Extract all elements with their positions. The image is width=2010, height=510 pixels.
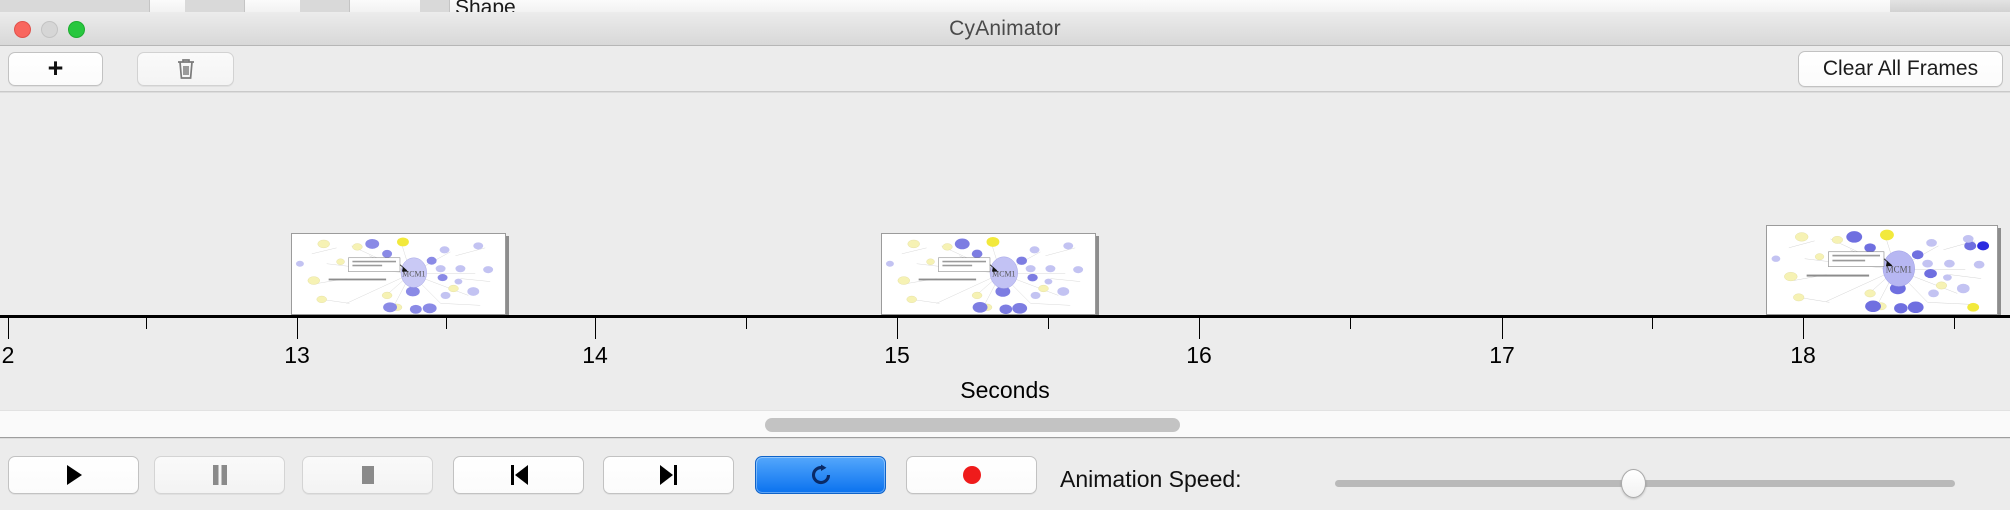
add-frame-button[interactable]: + (8, 52, 103, 86)
axis-tick-label: 18 (1790, 342, 1816, 369)
axis-tick-major (897, 318, 898, 339)
skip-forward-icon (658, 464, 680, 486)
time-axis: 2 13 14 15 16 17 18 Seconds (0, 315, 2010, 411)
axis-tick-major (8, 318, 9, 339)
skip-backward-icon (508, 464, 530, 486)
axis-tick-major (1502, 318, 1503, 339)
axis-tick-label: 16 (1186, 342, 1212, 369)
trash-icon (175, 57, 197, 81)
animation-speed-label: Animation Speed: (1060, 466, 1242, 493)
timeline-scrollbar[interactable] (0, 410, 2010, 438)
axis-tick-label: 17 (1489, 342, 1515, 369)
axis-tick-minor (1652, 318, 1653, 329)
axis-tick-minor (1954, 318, 1955, 329)
window-title: CyAnimator (0, 12, 2010, 46)
axis-tick-label: 2 (2, 342, 15, 369)
skip-to-end-button[interactable] (603, 456, 734, 494)
pause-button[interactable] (154, 456, 285, 494)
axis-tick-major (595, 318, 596, 339)
frame-thumbnail[interactable]: MCM1 (881, 233, 1096, 315)
axis-tick-minor (146, 318, 147, 329)
loop-button[interactable] (755, 456, 886, 494)
timeline-scrollbar-thumb[interactable] (765, 418, 1180, 432)
frame-track[interactable]: MCM1 (0, 93, 2010, 315)
title-bar: CyAnimator (0, 12, 2010, 46)
axis-tick-minor (1350, 318, 1351, 329)
background-window-strip: Shape (0, 0, 2010, 12)
axis-tick-major (1803, 318, 1804, 339)
frame-thumbnail[interactable]: MCM1 (1766, 225, 1998, 315)
clear-all-frames-button[interactable]: Clear All Frames (1798, 51, 2003, 87)
background-window-corner (1890, 0, 2010, 12)
axis-title: Seconds (0, 377, 2010, 404)
playback-controls: Animation Speed: (0, 438, 2010, 510)
network-graph-preview: MCM1 (882, 234, 1095, 315)
cyanimator-window: Shape CyAnimator + Clear All Frames (0, 0, 2010, 510)
axis-tick-major (297, 318, 298, 339)
axis-tick-major (1199, 318, 1200, 339)
stop-icon (358, 464, 378, 486)
axis-tick-label: 14 (582, 342, 608, 369)
skip-to-start-button[interactable] (453, 456, 584, 494)
record-icon (960, 463, 984, 487)
toolbar: + Clear All Frames (0, 46, 2010, 92)
frame-thumbnail[interactable]: MCM1 (291, 233, 506, 315)
background-window-label: Shape (455, 0, 516, 12)
animation-speed-slider[interactable] (1335, 480, 1955, 487)
axis-line (0, 315, 2010, 318)
animation-speed-slider-thumb[interactable] (1621, 469, 1646, 498)
stop-button[interactable] (302, 456, 433, 494)
play-icon (64, 464, 84, 486)
play-button[interactable] (8, 456, 139, 494)
delete-frame-button[interactable] (137, 52, 234, 86)
timeline-panel[interactable]: MCM1 (0, 92, 2010, 410)
network-graph-preview: MCM1 (1767, 226, 1997, 315)
network-graph-preview: MCM1 (292, 234, 505, 315)
pause-icon (211, 464, 229, 486)
axis-tick-minor (746, 318, 747, 329)
axis-tick-minor (1048, 318, 1049, 329)
axis-tick-minor (446, 318, 447, 329)
plus-icon: + (48, 55, 64, 82)
clear-all-frames-label: Clear All Frames (1823, 57, 1978, 81)
axis-tick-label: 13 (284, 342, 310, 369)
axis-tick-label: 15 (884, 342, 910, 369)
record-button[interactable] (906, 456, 1037, 494)
loop-icon (809, 463, 833, 487)
